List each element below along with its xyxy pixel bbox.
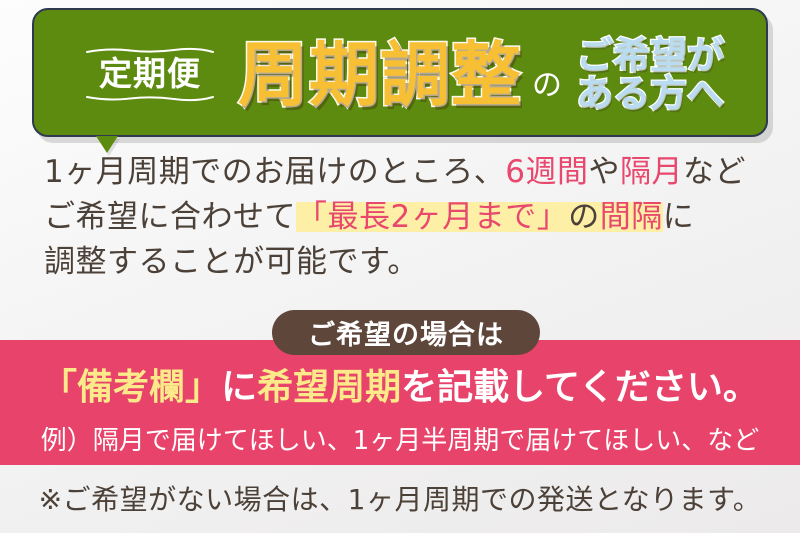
footer-note: ※ご希望がない場合は、1ヶ月周期での発送となります。	[0, 478, 800, 518]
header-side-text: ご希望が ある方へ	[576, 37, 724, 112]
body-line-1-part-3: など	[683, 154, 746, 190]
wavy-rule-top-icon	[86, 47, 214, 54]
header-green-box: 定期便 周期調整 の ご希望が ある方へ	[32, 8, 768, 137]
request-case-badge-label: ご希望の場合は	[308, 313, 504, 352]
body-line-1-part-1: 1ヶ月周期でのお届けのところ、	[44, 154, 505, 190]
header-side-line-1: ご希望が	[576, 37, 724, 75]
subscription-badge-label: 定期便	[97, 54, 203, 96]
body-line-1: 1ヶ月周期でのお届けのところ、6週間や隔月など	[0, 150, 800, 195]
body-line-1-part-2: や	[588, 154, 620, 190]
subscription-cycle-banner: 定期便 周期調整 の ご希望が ある方へ 1ヶ月周期でのお届けのところ、6週間や…	[0, 0, 800, 533]
body-line-2: ご希望に合わせて「最長2ヶ月まで」の間隔に	[0, 195, 800, 240]
header-main-title: 周期調整	[238, 40, 522, 110]
body-line-2-highlight-pink-1: 「最長2ヶ月まで」	[296, 199, 568, 235]
header-side-line-2: ある方へ	[576, 75, 724, 113]
body-line-2-part-1: ご希望に合わせて	[44, 199, 296, 235]
header-content: 定期便 周期調整 の ご希望が ある方へ	[34, 10, 770, 139]
pink-headline-white-2: を記載してください。	[401, 367, 759, 408]
header-particle: の	[532, 49, 562, 101]
wavy-rule-bottom-icon	[86, 95, 214, 102]
subscription-badge: 定期便	[86, 47, 214, 103]
pink-headline-yellow-1: 「備考欄」	[41, 367, 221, 408]
body-line-2-part-2: に	[663, 199, 695, 235]
request-case-badge: ご希望の場合は	[272, 310, 540, 355]
pink-example-text: 例）隔月で届けてほしい、1ヶ月半周期で届けてほしい、など	[0, 420, 800, 457]
body-paragraph: 1ヶ月周期でのお届けのところ、6週間や隔月など ご希望に合わせて「最長2ヶ月まで…	[0, 150, 800, 285]
pink-headline-yellow-2: 希望周期	[257, 367, 401, 408]
body-line-2-highlight-pink-2: 間隔	[600, 199, 663, 235]
pink-headline: 「備考欄」に希望周期を記載してください。	[0, 358, 800, 410]
pink-headline-white-1: に	[221, 367, 257, 408]
body-line-1-emphasis-2: 隔月	[620, 154, 683, 190]
body-line-3: 調整することが可能です。	[0, 240, 800, 285]
body-line-1-emphasis-1: 6週間	[505, 154, 588, 190]
body-line-2-highlight-dark: の	[568, 199, 600, 235]
